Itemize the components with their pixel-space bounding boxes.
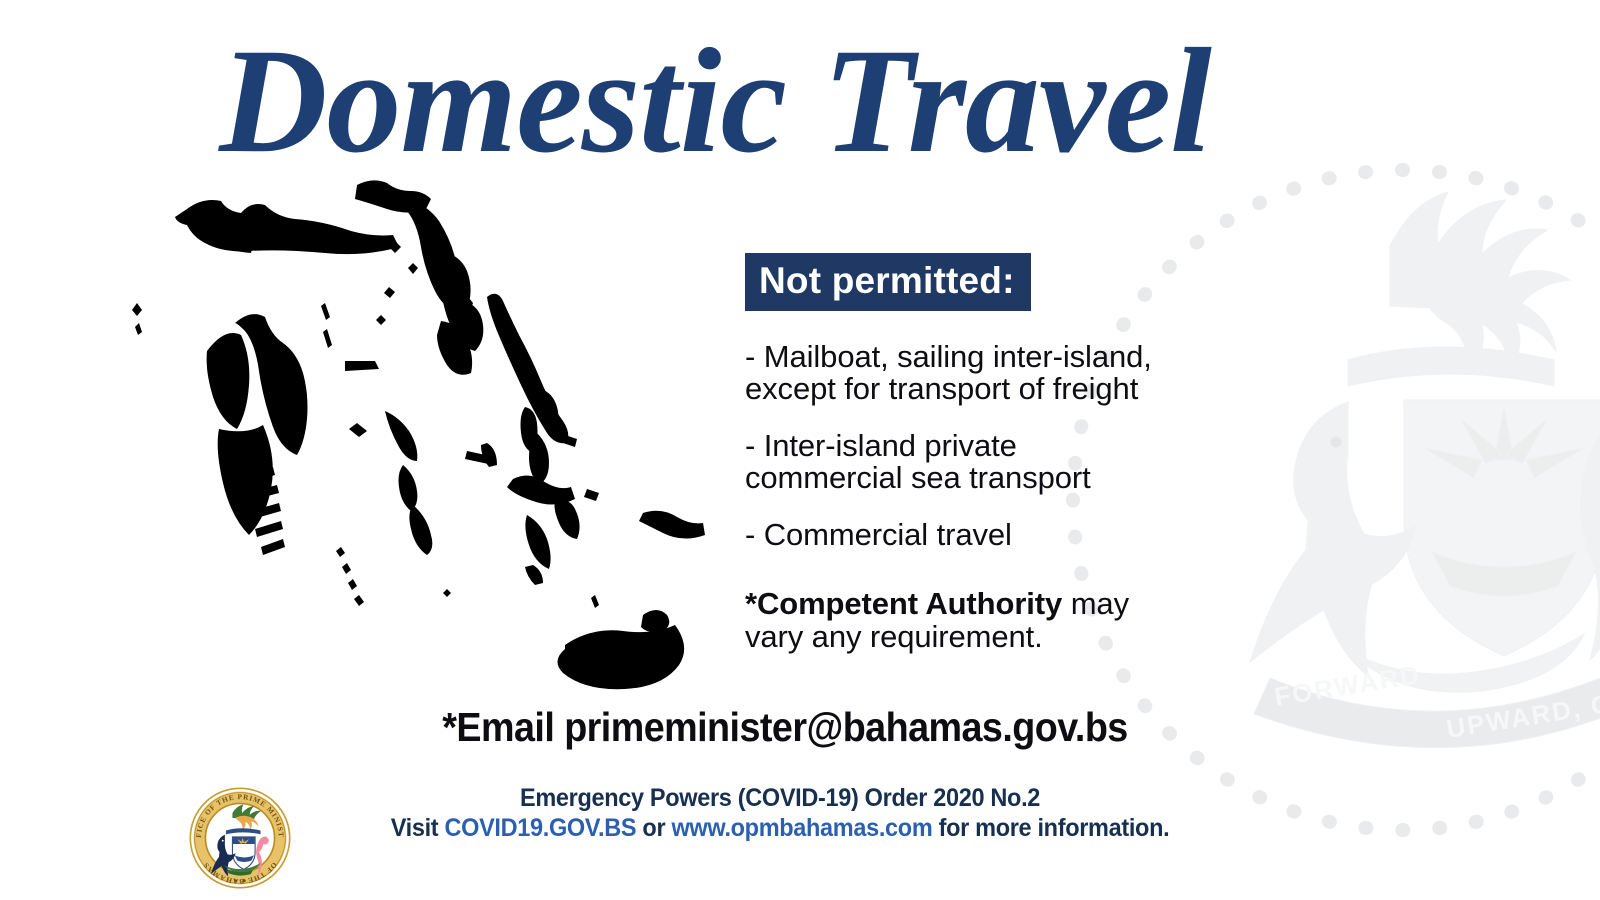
- list-item-line-2: except for transport of freight: [745, 373, 1285, 405]
- list-item-line-2: commercial sea transport: [745, 462, 1285, 494]
- competent-authority-strong: *Competent Authority: [745, 586, 1062, 621]
- competent-authority-line-2: vary any requirement.: [745, 619, 1043, 654]
- list-item-line-1: - Inter-island private: [745, 430, 1285, 462]
- footer-visit-label: Visit: [391, 814, 445, 842]
- list-item: - Commercial travel: [745, 519, 1285, 551]
- list-item: - Mailboat, sailing inter-island, except…: [745, 341, 1285, 404]
- competent-authority-note: *Competent Authority may vary any requir…: [745, 587, 1285, 653]
- arms-shield-icon: [1250, 192, 1600, 748]
- not-permitted-heading: Not permitted:: [745, 253, 1031, 311]
- poster-canvas: FORWARD UPWARD, O Domestic Travel: [0, 0, 1600, 900]
- list-item-line-1: - Mailboat, sailing inter-island,: [745, 341, 1285, 373]
- bahamas-map: [95, 175, 735, 695]
- list-item-line-1: - Commercial travel: [745, 519, 1285, 551]
- footer-tail-label: for more information.: [932, 814, 1169, 842]
- page-title: Domestic Travel: [0, 26, 1430, 176]
- list-item: - Inter-island private commercial sea tr…: [745, 430, 1285, 493]
- covid19-gov-bs-link[interactable]: COVID19.GOV.BS: [444, 814, 636, 842]
- bahamas-islands-silhouette: [132, 180, 705, 689]
- footer-or-label: or: [636, 814, 671, 842]
- office-of-prime-minister-seal: OFFICE OF THE PRIME MINISTER OF THE BAHA…: [186, 784, 294, 892]
- competent-authority-rest: may: [1062, 586, 1129, 621]
- opmbahamas-link[interactable]: www.opmbahamas.com: [671, 814, 932, 842]
- restrictions-panel: Not permitted: - Mailboat, sailing inter…: [745, 253, 1285, 653]
- email-contact-line: *Email primeminister@bahamas.gov.bs: [63, 704, 1507, 751]
